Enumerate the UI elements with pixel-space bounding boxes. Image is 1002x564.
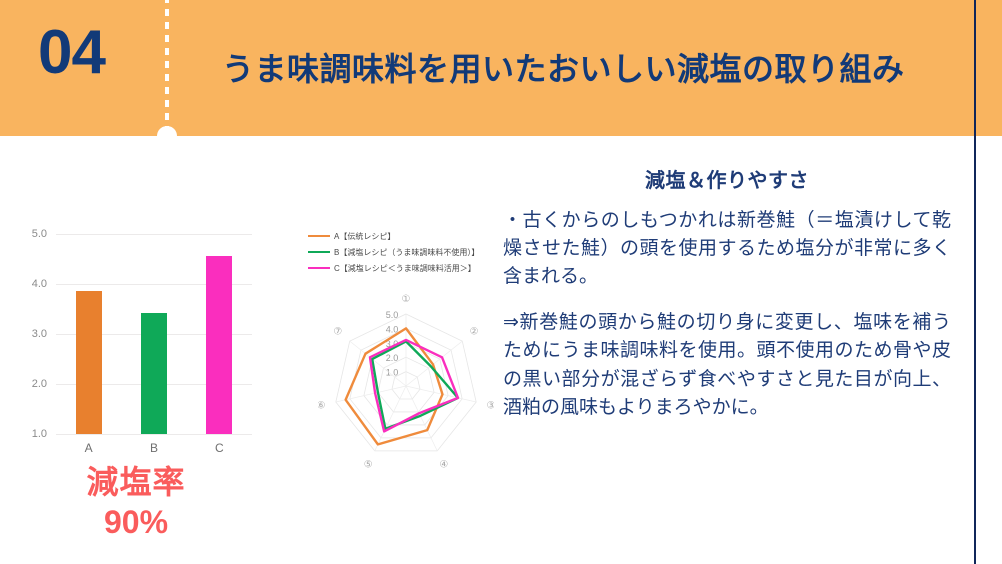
bar-chart-bar (206, 256, 232, 435)
bar-chart-y-tick-label: 1.0 (32, 428, 47, 440)
bar-chart-bar (76, 291, 102, 435)
radar-axis-label: ④ (439, 459, 448, 470)
radar-r-tick-label: 1.0 (386, 368, 399, 378)
description-panel: 減塩＆作りやすさ ・古くからのしもつかれは新巻鮭（＝塩漬けして乾燥させた鮭）の頭… (503, 164, 951, 440)
salt-reduction-callout: 減塩率 90% (16, 462, 256, 544)
page-title: うま味調味料を用いたおいしい減塩の取り組み (222, 44, 905, 90)
legend-color-swatch (308, 251, 330, 254)
legend-color-swatch (308, 235, 330, 238)
bar-chart-plot-area: 1.02.03.04.05.0ABC (56, 234, 252, 434)
bar-chart-y-tick-label: 3.0 (32, 328, 47, 340)
bar-chart-bar (141, 313, 167, 435)
bar-chart-gridline: 5.0 (56, 234, 252, 235)
header-divider-dot (157, 126, 177, 146)
radar-axis-label: ⑦ (333, 327, 342, 338)
radar-chart: 1.02.03.04.05.0①②③④⑤⑥⑦ (318, 288, 494, 480)
radar-axis-label: ⑥ (318, 400, 326, 411)
salt-reduction-label: 減塩率 (16, 462, 256, 502)
radar-r-tick-label: 5.0 (386, 310, 399, 320)
legend-item-label: C【減塩レシピ＜うま味調味料活用＞】 (334, 263, 476, 274)
header-band: 04 うま味調味料を用いたおいしい減塩の取り組み (0, 0, 1002, 136)
radar-axis-label: ② (470, 327, 479, 338)
radar-r-tick-label: 4.0 (386, 324, 399, 334)
description-paragraph-1: ・古くからのしもつかれは新巻鮭（＝塩漬けして乾燥させた鮭）の頭を使用するため塩分… (503, 207, 951, 291)
radar-axis-label: ③ (486, 400, 494, 411)
bar-chart-x-tick-label: A (85, 441, 93, 455)
bar-chart-y-tick-label: 4.0 (32, 278, 47, 290)
right-edge-rule (974, 0, 976, 564)
radar-axis-label: ⑤ (364, 459, 373, 470)
description-paragraph-2: ⇒新巻鮭の頭から鮭の切り身に変更し、塩味を補うためにうま味調味料を使用。頭不使用… (503, 309, 951, 421)
slide-number: 04 (38, 22, 105, 84)
bar-chart-gridline: 1.0 (56, 434, 252, 435)
header-dashed-divider (165, 0, 169, 136)
legend-item-label: A【伝統レシピ】 (334, 231, 395, 242)
bar-chart-x-tick-label: B (150, 441, 158, 455)
radar-axis-label: ① (402, 294, 411, 305)
legend-item-label: B【減塩レシピ（うま味調味料不使用）】 (334, 247, 479, 258)
salt-reduction-value: 90% (16, 502, 256, 544)
bar-chart-y-tick-label: 2.0 (32, 378, 47, 390)
radar-r-tick-label: 2.0 (386, 353, 399, 363)
legend-color-swatch (308, 267, 330, 270)
bar-chart-x-tick-label: C (215, 441, 224, 455)
bar-chart: 1.02.03.04.05.0ABC (8, 212, 276, 457)
bar-chart-y-tick-label: 5.0 (32, 228, 47, 240)
description-heading: 減塩＆作りやすさ (503, 164, 951, 193)
